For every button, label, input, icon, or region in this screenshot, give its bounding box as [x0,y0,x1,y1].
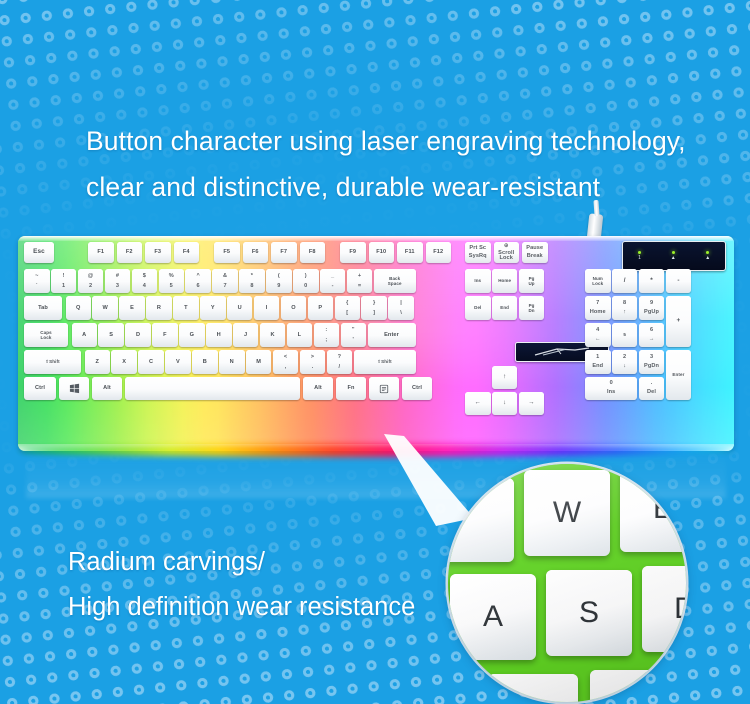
caps-lock-led-label: ▲ [671,256,676,261]
key-print-screen-top-legend: Prt Sc [469,246,486,251]
key-f11[interactable]: F11 [397,242,423,263]
key-a-legend: A [82,332,86,338]
key-numpad-plus-legend: + [677,318,681,324]
key-arrow-up[interactable]: ↑ [492,366,518,389]
key-end[interactable]: End [492,296,518,320]
key-numpad-6-bottom-legend: → [649,337,655,342]
key-numpad-5[interactable]: 5 [612,323,638,347]
key-key-top-legend: : [325,327,327,333]
key-numpad-enter-legend: Enter [672,372,684,377]
key-3[interactable]: #3 [105,269,131,293]
key-j-legend: J [244,332,247,338]
key-numpad-multiply-legend: * [650,278,653,284]
key-key[interactable]: _- [320,269,346,293]
key-caps-lock-legend: Caps Lock [40,330,51,340]
key-key[interactable]: :; [314,323,340,347]
key-3-bottom-legend: 3 [116,283,119,289]
key-b-legend: B [203,359,207,365]
key-numpad-1-top-legend: 1 [596,355,599,360]
key-delete-legend: Del [474,305,481,310]
key-q-legend: Q [76,305,80,311]
key-right-shift-legend: ⇧Shift [377,359,391,364]
key-key-bottom-legend: - [332,283,334,289]
key-n-legend: N [230,359,234,365]
key-l-legend: L [298,332,302,338]
key-key-bottom-legend: [ [346,310,348,316]
key-numpad-3[interactable]: 3PgDn [639,350,665,374]
num-lock-led-dot [638,251,641,254]
key-numpad-4-top-legend: 4 [596,328,599,333]
key-tab-legend: Tab [38,305,48,311]
key-arrow-right-legend: → [528,400,535,406]
key-pause-break-top-legend: Pause [526,246,543,251]
scroll-lock-led: ▲ [705,251,710,261]
key-page-down[interactable]: Pg Dn [519,296,545,320]
key-f1-legend: F1 [97,249,104,255]
key-z-legend: Z [95,359,99,365]
key-left-shift[interactable]: ⇧Shift [24,350,81,374]
key-f7[interactable]: F7 [271,242,297,263]
key-numpad-1[interactable]: 1End [585,350,611,374]
key-key-top-legend: + [358,273,361,279]
key-numpad-9-bottom-legend: PgUp [644,310,659,315]
key-page-up-legend: Pg Up [528,276,534,286]
key-h-legend: H [217,332,221,338]
key-scroll-lock[interactable]: ⊕Scroll Lock [494,242,520,263]
magnified-key-e: E [620,466,686,552]
key-arrow-left[interactable]: ← [465,392,491,415]
key-o-legend: O [291,305,295,311]
key-key-bottom-legend: . [312,364,314,370]
key-numpad-3-bottom-legend: PgDn [644,364,659,369]
key-key[interactable]: }] [361,296,387,320]
key-2-top-legend: @ [88,273,94,279]
key-z[interactable]: Z [85,350,111,374]
key-5-top-legend: % [169,273,174,279]
key-7-top-legend: & [223,273,227,279]
key-key-bottom-legend: / [339,364,341,370]
key-f8[interactable]: F8 [300,242,326,263]
key-numpad-7[interactable]: 7Home [585,296,611,320]
key-f6-legend: F6 [252,249,259,255]
key-w-legend: W [102,305,107,311]
brand-logo-icon [531,347,593,357]
windows-icon [69,383,80,394]
key-f4-legend: F4 [183,249,190,255]
key-y[interactable]: Y [200,296,226,320]
key-left-alt[interactable]: Alt [92,377,122,400]
key-j[interactable]: J [233,323,259,347]
key-g[interactable]: G [179,323,205,347]
key-d[interactable]: D [125,323,151,347]
key-key-bottom-legend: , [285,364,287,370]
key-numpad-6-top-legend: 6 [650,328,653,333]
key-key[interactable]: "' [341,323,367,347]
key-arrow-down[interactable]: ↓ [492,392,518,415]
key-r-legend: R [157,305,161,311]
key-f12[interactable]: F12 [426,242,452,263]
key-y-legend: Y [211,305,215,311]
key-key-top-legend: ~ [35,273,38,279]
key-h[interactable]: H [206,323,232,347]
key-r[interactable]: R [146,296,172,320]
key-i[interactable]: I [254,296,280,320]
key-4-top-legend: $ [143,273,146,279]
key-key-top-legend: _ [331,273,334,279]
headline-line-2: clear and distinctive, durable wear-resi… [86,164,746,210]
key-print-screen[interactable]: Prt ScSysRq [465,242,491,263]
subline-line-2: High definition wear resistance [68,585,498,630]
keyboard-product-photo: 1 ▲ ▲ EscF1F2F3F4F5 [18,236,734,451]
scroll-lock-led-dot [706,251,709,254]
key-numpad-9-top-legend: 9 [650,301,653,306]
key-key-bottom-legend: ] [373,310,375,316]
key-7-bottom-legend: 7 [223,283,226,289]
key-d-legend: D [136,332,140,338]
key-numpad-4-bottom-legend: ← [595,337,601,342]
key-fn-legend: Fn [347,385,354,391]
menu-icon [379,384,389,394]
key-left-alt-legend: Alt [103,385,111,391]
key-0-bottom-legend: 0 [304,283,307,289]
key-f9-legend: F9 [349,249,356,255]
key-key-bottom-legend: ` [36,283,38,289]
key-u[interactable]: U [227,296,253,320]
key-f2[interactable]: F2 [117,242,143,263]
key-arrow-right[interactable]: → [519,392,545,415]
key-scroll-lock-top-legend: ⊕ [504,244,509,249]
key-tab[interactable]: Tab [24,296,62,320]
magnified-key-s: S [546,570,632,656]
key-numpad-7-top-legend: 7 [596,301,599,306]
key-a[interactable]: A [72,323,98,347]
key-n[interactable]: N [219,350,245,374]
key-numpad-2-top-legend: 2 [623,355,626,360]
key-key-top-legend: } [373,300,375,306]
key-w[interactable]: W [92,296,118,320]
key-2[interactable]: @2 [78,269,104,293]
key-key[interactable]: ~` [24,269,50,293]
key-s-legend: S [109,332,113,338]
key-key-bottom-legend: ' [353,337,354,343]
magnified-key-lower [488,674,578,702]
key-numpad-0[interactable]: 0Ins [585,377,637,400]
key-s[interactable]: S [98,323,124,347]
key-f3[interactable]: F3 [145,242,171,263]
key-arrow-left-legend: ← [475,400,482,406]
led-indicator-panel: 1 ▲ ▲ [622,241,726,271]
key-9-bottom-legend: 9 [277,283,280,289]
key-delete[interactable]: Del [465,296,491,320]
key-6-bottom-legend: 6 [197,283,200,289]
key-g-legend: G [190,332,194,338]
headline-text: Button character using laser engraving t… [86,118,746,210]
key-p-legend: P [318,305,322,311]
key-key[interactable]: ?/ [327,350,353,374]
key-numpad-decimal-top-legend: . [651,381,653,386]
key-f7-legend: F7 [280,249,287,255]
key-page-up[interactable]: Pg Up [519,269,545,293]
key-numpad-minus-legend: - [677,278,679,284]
key-7[interactable]: &7 [212,269,238,293]
key-u-legend: U [238,305,242,311]
key-4-bottom-legend: 4 [143,283,146,289]
key-home[interactable]: Home [492,269,518,293]
key-6[interactable]: ^6 [185,269,211,293]
key-numpad-minus[interactable]: - [666,269,692,293]
key-key-top-legend: ? [338,354,342,360]
key-f3-legend: F3 [154,249,161,255]
caps-lock-led-dot [672,251,675,254]
key-print-screen-bottom-legend: SysRq [469,254,487,259]
key-right-ctrl[interactable]: Ctrl [402,377,432,400]
key-f11-legend: F11 [405,249,415,255]
key-key-bottom-legend: ; [325,337,327,343]
key-c[interactable]: C [138,350,164,374]
num-lock-led-label: 1 [638,256,641,261]
key-x[interactable]: X [111,350,137,374]
key-end-legend: End [500,305,509,310]
key-5[interactable]: %5 [159,269,185,293]
key-key-top-legend: < [284,354,287,360]
key-key[interactable]: >. [300,350,326,374]
key-insert[interactable]: Ins [465,269,491,293]
key-b[interactable]: B [192,350,218,374]
key-numpad-3-top-legend: 3 [650,355,653,360]
key-numpad-decimal[interactable]: .Del [639,377,665,400]
key-numpad-0-top-legend: 0 [610,381,613,386]
key-c-legend: C [149,359,153,365]
key-9[interactable]: (9 [266,269,292,293]
key-backspace[interactable]: Back Space [374,269,416,293]
key-9-top-legend: ( [278,273,280,279]
key-numpad-9[interactable]: 9PgUp [639,296,665,320]
key-f8-legend: F8 [309,249,316,255]
key-f10-legend: F10 [376,249,386,255]
key-pause-break-bottom-legend: Break [527,254,543,259]
key-left-shift-legend: ⇧Shift [45,359,59,364]
magnified-key-lower-2 [590,670,680,702]
key-l[interactable]: L [287,323,313,347]
key-numpad-7-bottom-legend: Home [590,310,606,315]
key-key-top-legend: { [346,300,348,306]
key-8-bottom-legend: 8 [250,283,253,289]
key-numpad-0-bottom-legend: Ins [607,390,615,395]
key-3-top-legend: # [116,273,119,279]
key-esc-legend: Esc [33,249,45,255]
scroll-lock-led-label: ▲ [705,256,710,261]
key-k[interactable]: K [260,323,286,347]
num-lock-led: 1 [638,251,641,261]
key-num-lock-legend: Num Lock [592,276,603,286]
key-key[interactable]: += [347,269,373,293]
key-space[interactable] [125,377,300,400]
key-1-top-legend: ! [63,273,65,279]
key-key-top-legend: > [311,354,314,360]
key-right-ctrl-legend: Ctrl [412,385,422,391]
key-key-bottom-legend: \ [400,310,402,316]
key-4[interactable]: $4 [132,269,158,293]
key-key[interactable]: |\ [388,296,414,320]
key-numpad-1-bottom-legend: End [592,364,603,369]
key-t-legend: T [184,305,188,311]
key-e-legend: E [130,305,134,311]
key-f[interactable]: F [152,323,178,347]
key-5-bottom-legend: 5 [170,283,173,289]
key-t[interactable]: T [173,296,199,320]
key-numpad-plus[interactable]: + [666,296,692,347]
key-o[interactable]: O [281,296,307,320]
key-f5-legend: F5 [223,249,230,255]
key-q[interactable]: Q [66,296,92,320]
key-k-legend: K [270,332,274,338]
key-left-ctrl-legend: Ctrl [35,385,45,391]
key-m-legend: M [256,359,261,365]
key-6-top-legend: ^ [196,273,199,279]
key-key-top-legend: " [352,327,355,333]
magnified-key-d: D [642,566,686,652]
key-f4[interactable]: F4 [174,242,200,263]
subline-text: Radium carvings/ High definition wear re… [68,540,498,630]
key-e[interactable]: E [119,296,145,320]
caps-lock-led: ▲ [671,251,676,261]
magnified-key-w: W [524,470,610,556]
key-right-shift[interactable]: ⇧Shift [354,350,416,374]
key-left-ctrl[interactable]: Ctrl [24,377,56,400]
headline-line-1: Button character using laser engraving t… [86,126,686,156]
key-f1[interactable]: F1 [88,242,114,263]
key-menu[interactable] [369,377,399,400]
key-right-alt-legend: Alt [314,385,322,391]
key-numpad-divide-legend: / [624,278,626,284]
key-arrow-up-legend: ↑ [503,374,506,380]
key-home-legend: Home [498,278,511,283]
key-fn[interactable]: Fn [336,377,366,400]
key-v-legend: V [176,359,180,365]
key-numpad-5-legend: 5 [623,332,626,337]
key-enter-legend: Enter [384,332,399,338]
key-page-down-legend: Pg Dn [528,303,534,313]
key-arrow-down-legend: ↓ [503,400,506,406]
key-8-top-legend: * [251,273,253,279]
key-insert-legend: Ins [474,278,481,283]
key-scroll-lock-bottom-legend: Scroll Lock [498,251,514,261]
key-i-legend: I [266,305,268,311]
key-key-top-legend: | [400,300,402,306]
key-8[interactable]: *8 [239,269,265,293]
key-pause-break[interactable]: PauseBreak [522,242,548,263]
key-f5[interactable]: F5 [214,242,240,263]
key-numpad-8-top-legend: 8 [623,301,626,306]
keyboard-body: 1 ▲ ▲ EscF1F2F3F4F5 [18,236,734,451]
key-x-legend: X [122,359,126,365]
key-f2-legend: F2 [126,249,133,255]
key-f10[interactable]: F10 [369,242,395,263]
key-right-alt[interactable]: Alt [303,377,333,400]
key-numpad-enter[interactable]: Enter [666,350,692,400]
key-numpad-4[interactable]: 4← [585,323,611,347]
key-enter[interactable]: Enter [368,323,416,347]
key-numpad-decimal-bottom-legend: Del [647,390,656,395]
key-numpad-divide[interactable]: / [612,269,638,293]
key-0[interactable]: )0 [293,269,319,293]
key-f9[interactable]: F9 [340,242,366,263]
key-numpad-6[interactable]: 6→ [639,323,665,347]
key-numpad-2-bottom-legend: ↓ [623,364,626,369]
key-1[interactable]: !1 [51,269,77,293]
key-num-lock[interactable]: Num Lock [585,269,611,293]
key-esc[interactable]: Esc [24,242,54,263]
key-2-bottom-legend: 2 [89,283,92,289]
key-0-top-legend: ) [305,273,307,279]
key-key-bottom-legend: = [358,283,361,289]
key-numpad-2[interactable]: 2↓ [612,350,638,374]
key-backspace-legend: Back Space [388,276,402,286]
key-f6[interactable]: F6 [243,242,269,263]
key-1-bottom-legend: 1 [62,283,65,289]
subline-line-1: Radium carvings/ [68,540,498,585]
key-windows[interactable] [59,377,89,400]
key-m[interactable]: M [246,350,272,374]
key-numpad-multiply[interactable]: * [639,269,665,293]
key-p[interactable]: P [308,296,334,320]
key-key[interactable]: {[ [335,296,361,320]
key-key[interactable]: <, [273,350,299,374]
key-v[interactable]: V [165,350,191,374]
product-marketing-image: Button character using laser engraving t… [0,0,750,704]
key-caps-lock[interactable]: Caps Lock [24,323,68,347]
key-f-legend: F [163,332,167,338]
key-f12-legend: F12 [433,249,443,255]
key-numpad-8[interactable]: 8↑ [612,296,638,320]
key-numpad-8-bottom-legend: ↑ [623,310,626,315]
